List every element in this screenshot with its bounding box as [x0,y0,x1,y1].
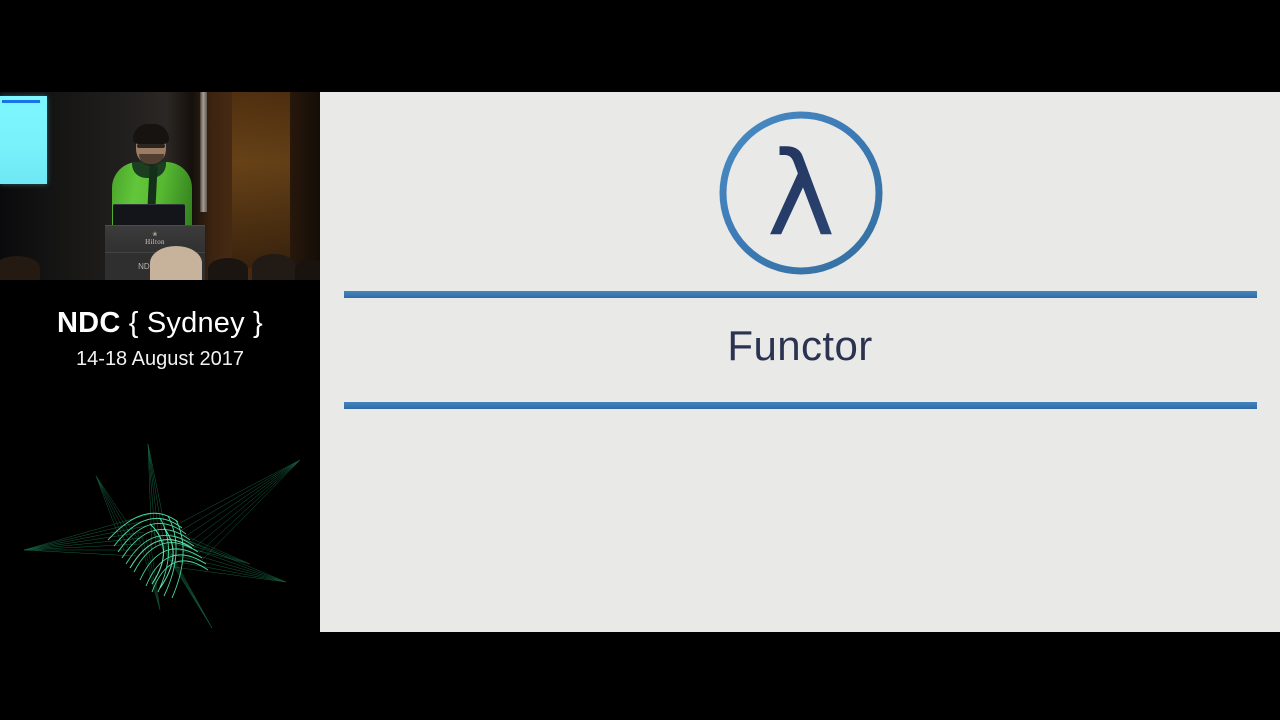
conference-dates: 14-18 August 2017 [0,346,320,372]
slide-rule-top [344,291,1257,298]
conference-branding: NDC { Sydney } 14-18 August 2017 [0,280,320,440]
presentation-slide: λ Functor [320,92,1280,632]
wood-wall-panel [232,92,290,268]
podium-brand-text: Hilton [145,238,165,246]
audience-head [150,246,202,280]
speaker-glasses [137,144,165,148]
audience-head [0,256,40,280]
podium-brand-label: ❀ Hilton [105,232,205,246]
letterbox-bottom [0,632,1280,720]
letterbox-top [0,0,1280,92]
audience-head [295,260,320,280]
speaker-hair [133,124,169,144]
ndc-abstract-spirograph-logo [0,432,320,632]
projector-screen [0,96,47,184]
podium-laptop [113,204,185,227]
conference-city: { Sydney } [129,307,263,339]
door-frame [200,92,207,212]
projector-screen-line [2,100,40,103]
speaker-camera-feed: ❀ Hilton NDC { Sy [0,92,320,280]
audience-head [252,254,296,280]
lambda-glyph: λ [767,127,836,262]
lambda-in-circle-logo: λ [718,110,884,276]
video-player-stage: ❀ Hilton NDC { Sy NDC { Sydney } 14-18 A… [0,0,1280,720]
audience-head [208,258,248,280]
slide-title: Functor [320,320,1280,372]
speaker-panel: ❀ Hilton NDC { Sy NDC { Sydney } 14-18 A… [0,92,320,632]
hilton-mark-icon: ❀ [105,232,205,238]
conference-title: NDC { Sydney } [0,306,320,340]
slide-rule-bottom [344,402,1257,409]
conference-name: NDC [57,307,120,339]
